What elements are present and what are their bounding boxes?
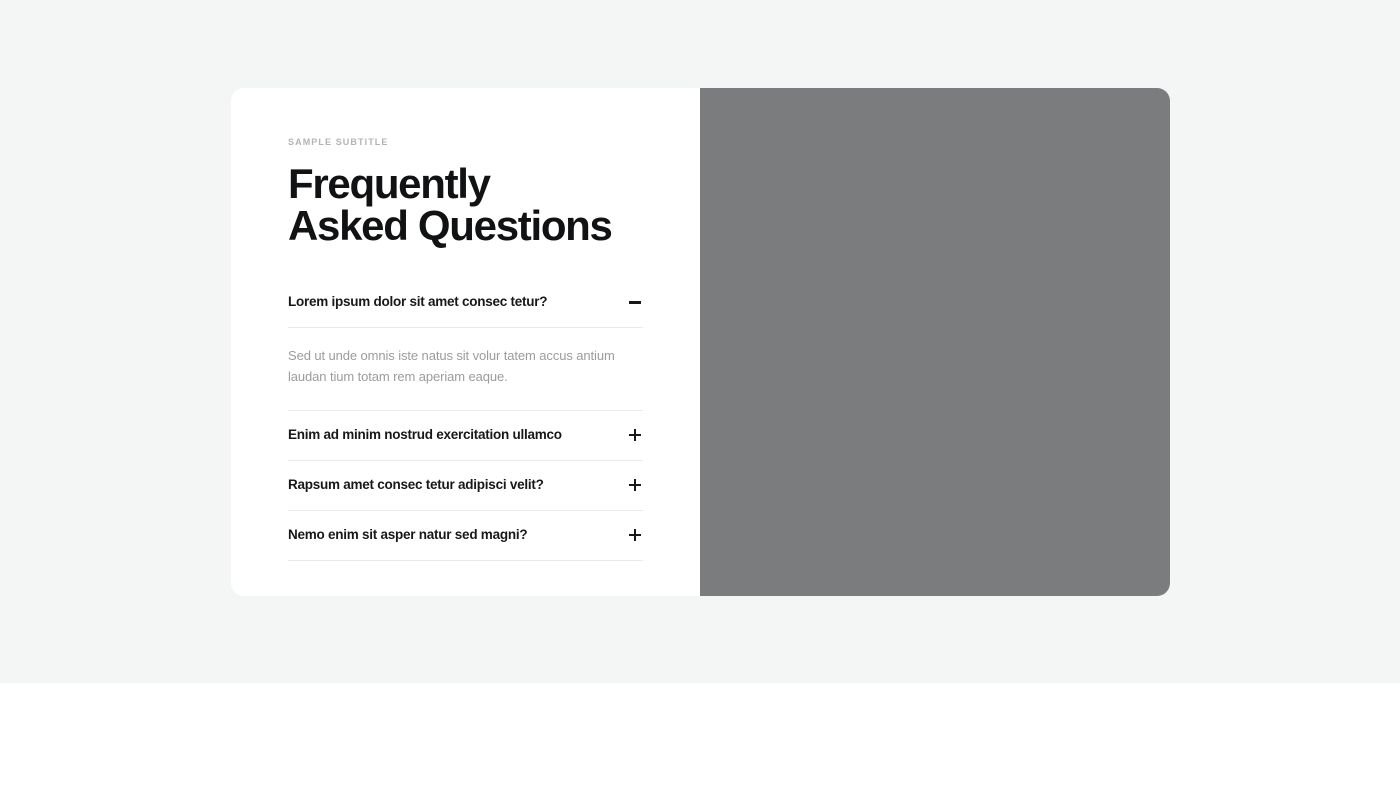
faq-accordion: Lorem ipsum dolor sit amet consec tetur?…	[288, 278, 643, 561]
page-footer-area	[0, 683, 1400, 788]
accordion-item: Enim ad minim nostrud exercitation ullam…	[288, 411, 643, 461]
plus-icon[interactable]	[628, 478, 642, 492]
minus-icon[interactable]	[628, 296, 642, 310]
faq-eyebrow: SAMPLE SUBTITLE	[288, 138, 700, 147]
accordion-item: Rapsum amet consec tetur adipisci velit?	[288, 461, 643, 511]
faq-section: SAMPLE SUBTITLE Frequently Asked Questio…	[0, 0, 1400, 683]
accordion-header[interactable]: Rapsum amet consec tetur adipisci velit?	[288, 461, 643, 510]
accordion-question-label: Nemo enim sit asper natur sed magni?	[288, 527, 527, 543]
faq-card: SAMPLE SUBTITLE Frequently Asked Questio…	[231, 88, 1170, 596]
accordion-question-label: Lorem ipsum dolor sit amet consec tetur?	[288, 294, 547, 310]
accordion-header[interactable]: Lorem ipsum dolor sit amet consec tetur?	[288, 278, 643, 327]
accordion-answer-text: Sed ut unde omnis iste natus sit volur t…	[288, 346, 633, 388]
accordion-header[interactable]: Enim ad minim nostrud exercitation ullam…	[288, 411, 643, 460]
accordion-question-label: Enim ad minim nostrud exercitation ullam…	[288, 427, 562, 443]
accordion-item: Lorem ipsum dolor sit amet consec tetur?…	[288, 278, 643, 411]
accordion-item: Nemo enim sit asper natur sed magni?	[288, 511, 643, 561]
accordion-header[interactable]: Nemo enim sit asper natur sed magni?	[288, 511, 643, 560]
plus-icon[interactable]	[628, 428, 642, 442]
accordion-divider	[288, 560, 643, 561]
plus-icon[interactable]	[628, 528, 642, 542]
page-root: SAMPLE SUBTITLE Frequently Asked Questio…	[0, 0, 1400, 788]
faq-image-placeholder	[700, 88, 1170, 596]
accordion-panel: Sed ut unde omnis iste natus sit volur t…	[288, 328, 643, 410]
faq-content-panel: SAMPLE SUBTITLE Frequently Asked Questio…	[231, 88, 700, 596]
page-title: Frequently Asked Questions	[288, 163, 618, 247]
accordion-question-label: Rapsum amet consec tetur adipisci velit?	[288, 477, 544, 493]
